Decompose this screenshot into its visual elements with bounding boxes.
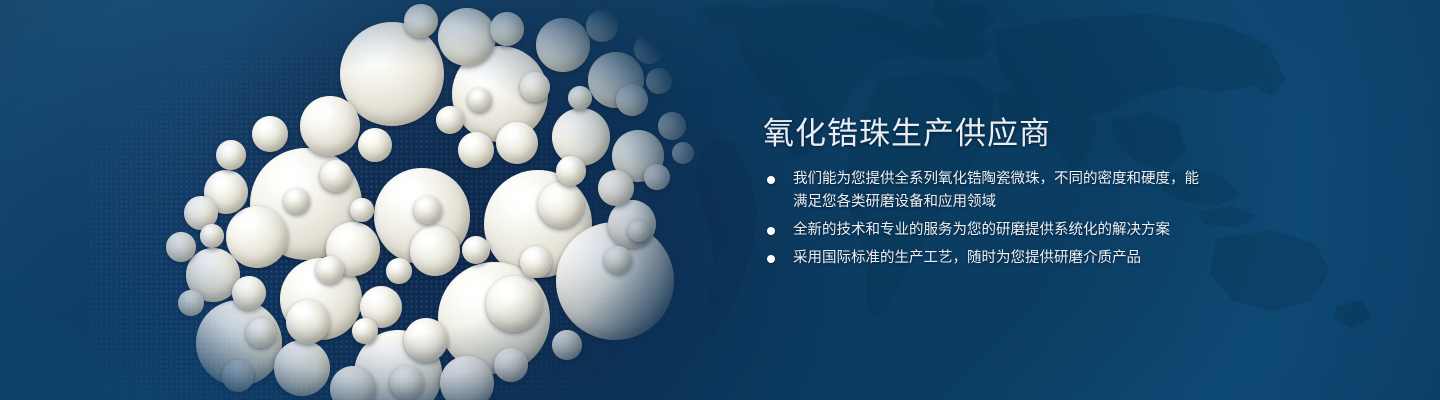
banner-content: 氧化锆珠生产供应商 我们能为您提供全系列氧化锆陶瓷微珠，不同的密度和硬度，能满足…: [763, 0, 1233, 400]
banner-bullet-list: 我们能为您提供全系列氧化锆陶瓷微珠，不同的密度和硬度，能满足您各类研磨设备和应用…: [763, 168, 1203, 275]
banner-headline: 氧化锆珠生产供应商: [763, 108, 1051, 153]
bullet-dot-icon: [767, 176, 775, 184]
zirconia-beads-photo: [0, 0, 760, 400]
list-item: 采用国际标准的生产工艺，随时为您提供研磨介质产品: [763, 247, 1203, 270]
hero-banner: 氧化锆珠生产供应商 我们能为您提供全系列氧化锆陶瓷微珠，不同的密度和硬度，能满足…: [0, 0, 1440, 400]
bullet-text: 采用国际标准的生产工艺，随时为您提供研磨介质产品: [793, 247, 1203, 270]
bullet-text: 全新的技术和专业的服务为您的研磨提供系统化的解决方案: [793, 219, 1203, 242]
list-item: 我们能为您提供全系列氧化锆陶瓷微珠，不同的密度和硬度，能满足您各类研磨设备和应用…: [763, 168, 1203, 214]
bullet-dot-icon: [767, 255, 775, 263]
bullet-dot-icon: [767, 227, 775, 235]
bullet-text: 我们能为您提供全系列氧化锆陶瓷微珠，不同的密度和硬度，能满足您各类研磨设备和应用…: [793, 168, 1203, 214]
list-item: 全新的技术和专业的服务为您的研磨提供系统化的解决方案: [763, 219, 1203, 242]
